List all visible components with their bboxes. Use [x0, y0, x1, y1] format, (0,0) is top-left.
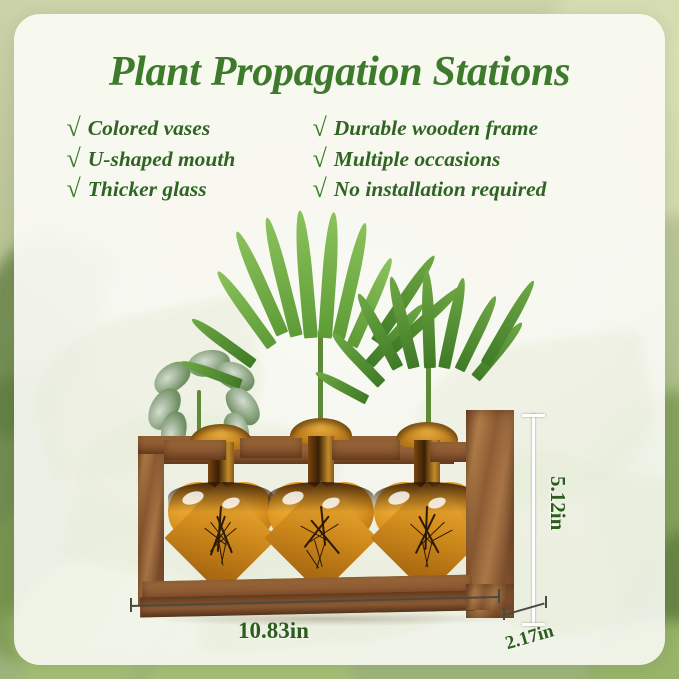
feature-label: Thicker glass	[88, 175, 207, 204]
height-dimension-label: 5.12in	[545, 476, 570, 530]
frame-crossbar-segment-2	[240, 438, 302, 458]
product-photo	[14, 210, 665, 640]
feature-label: Multiple occasions	[334, 145, 501, 174]
height-cap-top	[522, 414, 545, 417]
feature-item: √ Colored vases	[67, 114, 307, 143]
depth-tick-left	[503, 608, 505, 620]
feature-label: No installation required	[334, 175, 547, 204]
check-icon: √	[313, 115, 327, 141]
feature-item: √ U-shaped mouth	[67, 145, 307, 174]
product-infographic: Plant Propagation Stations √ Colored vas…	[0, 0, 679, 679]
page-title: Plant Propagation Stations	[14, 48, 665, 96]
feature-label: Durable wooden frame	[334, 114, 538, 143]
frame-crossbar-segment-1	[164, 440, 226, 460]
feature-item: √ No installation required	[313, 175, 613, 204]
product-shadow	[154, 612, 504, 626]
check-icon: √	[67, 146, 81, 172]
feature-label: Colored vases	[88, 114, 210, 143]
feature-item: √ Multiple occasions	[313, 145, 613, 174]
check-icon: √	[313, 146, 327, 172]
width-dimension-label: 10.83in	[238, 618, 309, 644]
depth-tick-right	[545, 596, 547, 608]
feature-column-right: √ Durable wooden frame √ Multiple occasi…	[313, 114, 613, 204]
feature-list: √ Colored vases √ U-shaped mouth √ Thick…	[14, 114, 665, 204]
feature-item: √ Thicker glass	[67, 175, 307, 204]
check-icon: √	[67, 176, 81, 202]
check-icon: √	[313, 176, 327, 202]
content-card: Plant Propagation Stations √ Colored vas…	[14, 14, 665, 665]
feature-label: U-shaped mouth	[88, 145, 236, 174]
width-tick-right	[498, 589, 500, 603]
check-icon: √	[67, 115, 81, 141]
frame-crossbar-segment-3	[332, 440, 400, 460]
height-dimension-line	[532, 414, 535, 626]
width-tick-left	[130, 598, 132, 612]
feature-column-left: √ Colored vases √ U-shaped mouth √ Thick…	[67, 114, 307, 204]
feature-item: √ Durable wooden frame	[313, 114, 613, 143]
frame-crossbar-segment-4	[430, 442, 470, 462]
